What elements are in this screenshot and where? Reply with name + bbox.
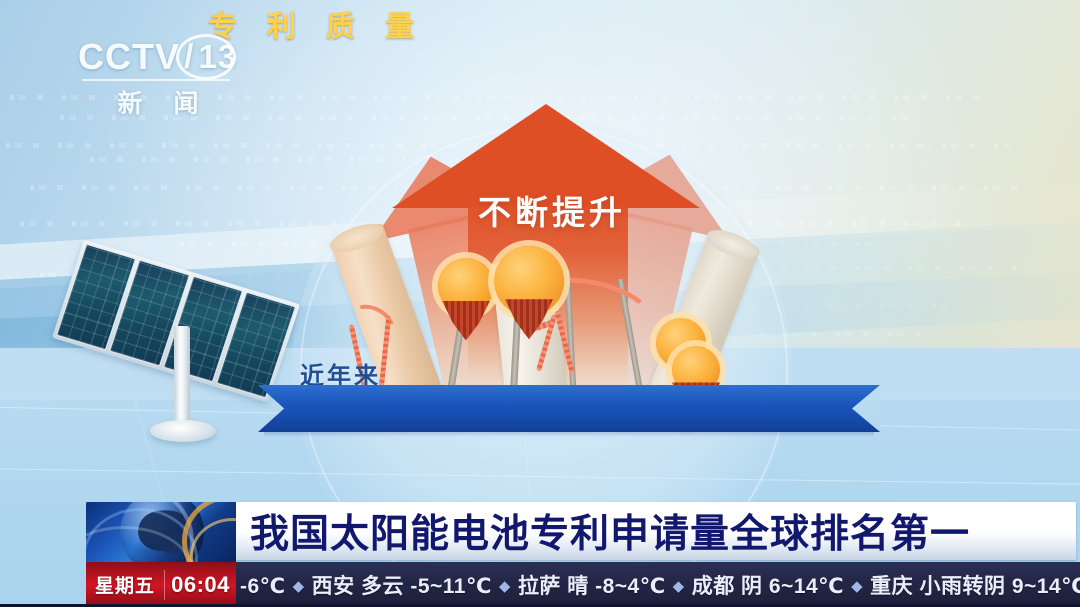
cctv13-logo: CCTV / 13 新 闻 — [78, 36, 238, 112]
clock-label: 06:04 — [165, 572, 236, 598]
award-medal-two — [494, 246, 564, 316]
time-box: 星期五 06:04 — [86, 562, 236, 607]
headline-bar: 我国太阳能电池专利申请量全球排名第一 — [236, 502, 1076, 560]
weather-ticker: -6℃◆西安 多云 -5~11℃◆拉萨 晴 -8~4℃◆成都 阴 6~14℃◆重… — [236, 562, 1080, 607]
logo-subtitle: 新 闻 — [78, 84, 238, 120]
headline-text: 我国太阳能电池专利申请量全球排名第一 — [250, 502, 970, 560]
weekday-label: 星期五 — [86, 571, 164, 598]
solar-panel-pole — [174, 326, 190, 430]
globe-icon — [86, 502, 236, 562]
banner-notch-right — [852, 385, 880, 432]
weather-ticker-text: -6℃◆西安 多云 -5~11℃◆拉萨 晴 -8~4℃◆成都 阴 6~14℃◆重… — [236, 570, 1080, 600]
solar-panel-base — [150, 420, 216, 442]
broadcast-screenshot: CCTV / 13 新 闻 — [0, 0, 1080, 607]
award-medal-one — [438, 258, 494, 314]
quality-banner-label: 专 利 质 量 — [0, 0, 622, 47]
graphic-top-label: 不断提升 — [478, 186, 626, 234]
logo-underline — [82, 79, 230, 81]
lower-third: 我国太阳能电池专利申请量全球排名第一 星期五 06:04 -6℃◆西安 多云 -… — [0, 500, 1080, 607]
quality-banner — [258, 385, 880, 432]
